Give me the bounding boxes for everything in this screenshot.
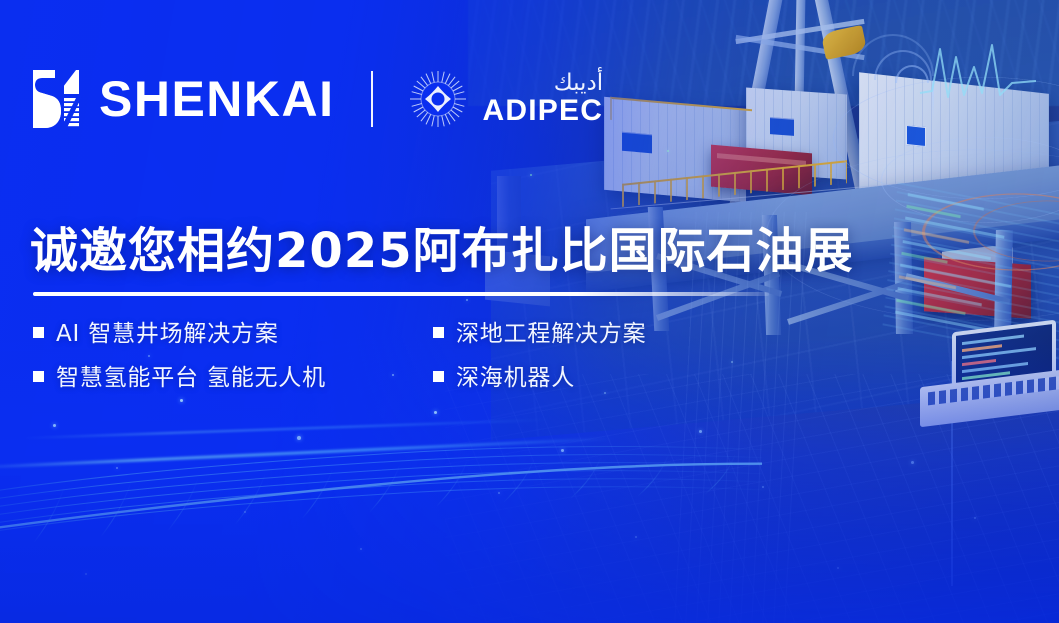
banner-content: SHENKAI bbox=[0, 0, 1059, 623]
feature-item: AI 智慧井场解决方案 bbox=[33, 314, 433, 348]
square-bullet-icon bbox=[433, 327, 444, 338]
feature-label: 深地工程解决方案 bbox=[456, 314, 646, 348]
adipec-nameplate: أديبك ADIPEC bbox=[483, 72, 604, 126]
feature-row: AI 智慧井场解决方案 深地工程解决方案 bbox=[33, 314, 733, 348]
promotional-banner: SHENKAI bbox=[0, 0, 1059, 623]
feature-item: 深海机器人 bbox=[433, 358, 575, 392]
feature-row: 智慧氢能平台 氢能无人机 深海机器人 bbox=[33, 358, 733, 392]
shenkai-sk-monogram-icon bbox=[30, 68, 82, 130]
shenkai-wordmark: SHENKAI bbox=[99, 74, 335, 124]
adipec-logo: أديبك ADIPEC bbox=[407, 68, 604, 130]
feature-item: 深地工程解决方案 bbox=[433, 314, 646, 348]
feature-list: AI 智慧井场解决方案 深地工程解决方案 智慧氢能平台 氢能无人机 深海机器人 bbox=[33, 314, 733, 402]
adipec-sunburst-icon bbox=[407, 68, 469, 130]
square-bullet-icon bbox=[33, 327, 44, 338]
logo-separator bbox=[371, 71, 373, 127]
square-bullet-icon bbox=[433, 371, 444, 382]
adipec-arabic-name: أديبك bbox=[483, 72, 604, 95]
feature-label: 深海机器人 bbox=[456, 358, 575, 392]
feature-label: AI 智慧井场解决方案 bbox=[56, 314, 279, 348]
square-bullet-icon bbox=[33, 371, 44, 382]
title-divider bbox=[33, 292, 769, 296]
feature-item: 智慧氢能平台 氢能无人机 bbox=[33, 358, 433, 392]
logo-lockup: SHENKAI bbox=[30, 68, 603, 130]
page-title: 诚邀您相约2025阿布扎比国际石油展 bbox=[30, 224, 854, 279]
adipec-english-name: ADIPEC bbox=[483, 96, 604, 126]
feature-label: 智慧氢能平台 氢能无人机 bbox=[56, 358, 326, 392]
